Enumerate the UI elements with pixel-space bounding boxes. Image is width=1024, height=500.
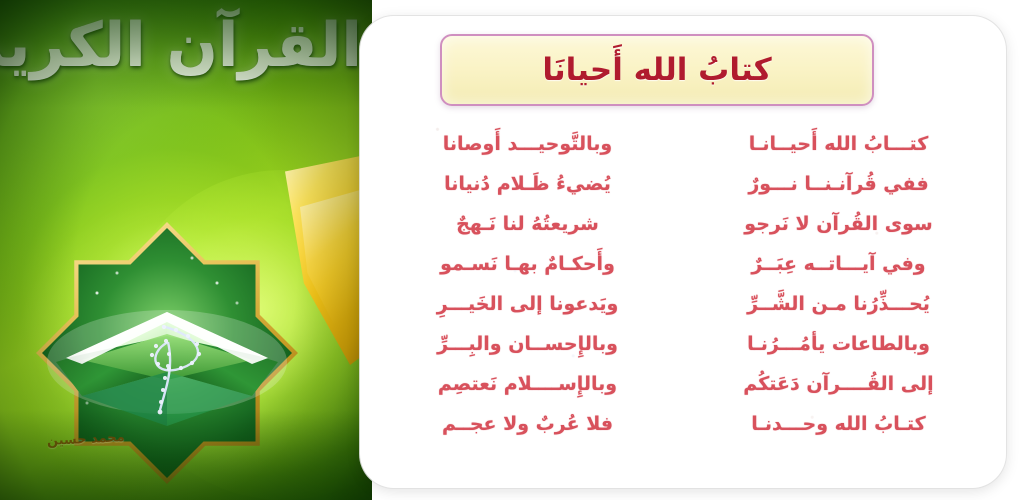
- gold-ribbon-shape: [285, 150, 372, 365]
- poem-line: إلى القُــــرآن دَعَتكُم: [683, 364, 994, 404]
- quran-star-medallion: [36, 222, 298, 484]
- poem-card: كتابُ الله أَحيانَا كتـــابُ الله أَحيــ…: [360, 16, 1006, 488]
- panel-top-shade: [0, 0, 372, 108]
- poem-line: كتـابُ الله وحـــدنـا: [683, 404, 994, 444]
- quran-heading: القرآن الكريم: [10, 14, 368, 77]
- poem-line: شريعتُهُ لنا نَـهجٌ: [372, 204, 683, 244]
- poem-line: يُحـــذِّرُنا مـن الشَّــرِّ: [683, 284, 994, 324]
- poem-line: كتـــابُ الله أَحيــانـا: [683, 124, 994, 164]
- poem-column-right: كتـــابُ الله أَحيــانـا ففي قُرآنـنــا …: [683, 124, 994, 474]
- poem-line: وبالإِحســان والبِـــرِّ: [372, 324, 683, 364]
- poem-line: ففي قُرآنـنــا نـــورٌ: [683, 164, 994, 204]
- poem-line: وبالتَّوحيـــد أَوصانا: [372, 124, 683, 164]
- poem-line: وبالطاعات يأمُـــرُنـا: [683, 324, 994, 364]
- poem-title-plaque: كتابُ الله أَحيانَا: [440, 34, 874, 106]
- poem-line: وبالإِســــلام نَعتصِم: [372, 364, 683, 404]
- poem-columns: كتـــابُ الله أَحيــانـا ففي قُرآنـنــا …: [372, 124, 994, 474]
- poster-canvas: القرآن الكريم القرآن الكريم: [0, 0, 1024, 500]
- open-quran-book-icon: [42, 284, 292, 434]
- quran-cover-artwork-panel: القرآن الكريم القرآن الكريم: [0, 0, 372, 500]
- poem-title: كتابُ الله أَحيانَا: [542, 52, 771, 88]
- quran-heading-ghost: القرآن الكريم: [10, 14, 368, 77]
- poem-column-left: وبالتَّوحيـــد أَوصانا يُضيءُ ظَـلام دُن…: [372, 124, 683, 474]
- poem-line: وأَحكـامٌ بهـا نَسـمو: [372, 244, 683, 284]
- poem-line: وفي آيـــاتــه عِبَــرٌ: [683, 244, 994, 284]
- poem-line: يُضيءُ ظَـلام دُنيانا: [372, 164, 683, 204]
- poem-line: فلا عُربٌ ولا عجــم: [372, 404, 683, 444]
- poem-line: ويَدعونا إلى الخَيـــرِ: [372, 284, 683, 324]
- poem-line: سوى القُرآن لا نَرجو: [683, 204, 994, 244]
